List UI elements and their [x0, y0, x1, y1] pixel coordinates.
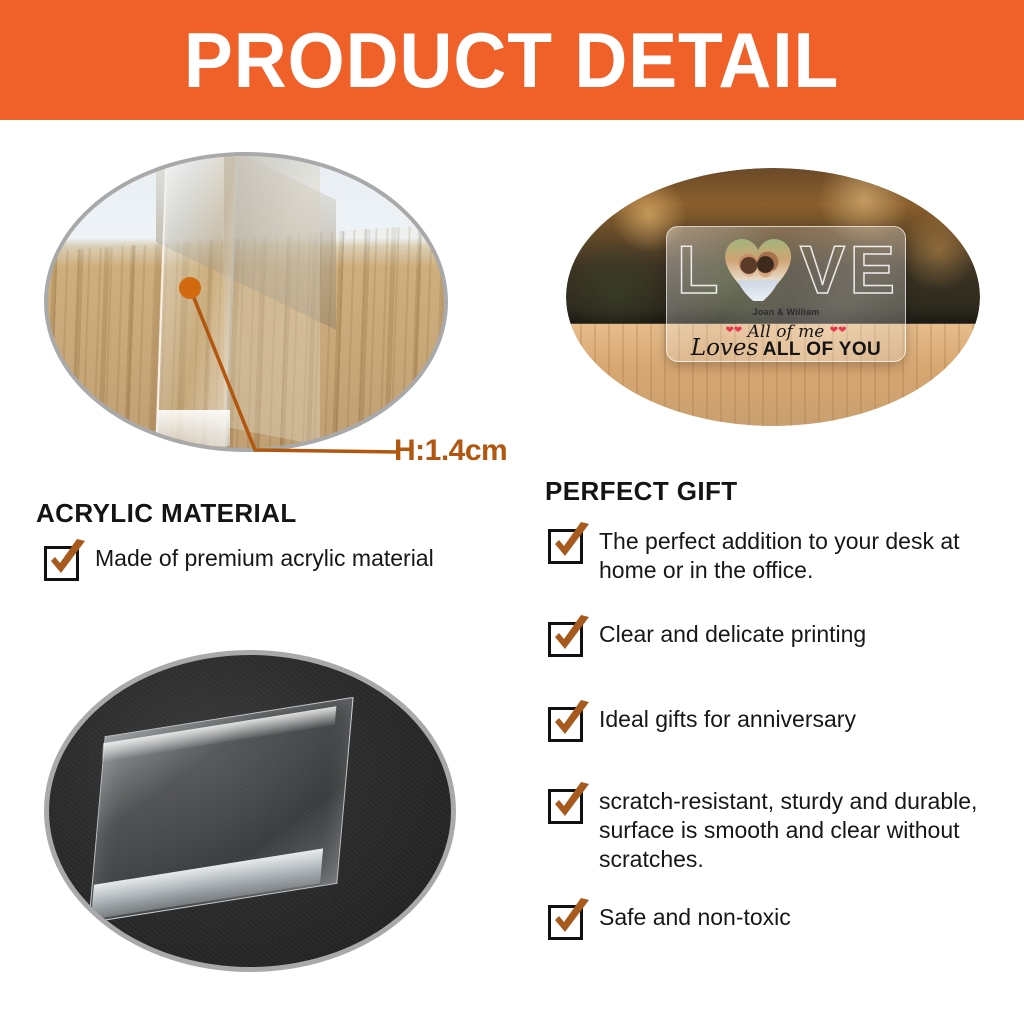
plaque-tagline-script: Loves — [691, 335, 759, 361]
feature-item-label: The perfect addition to your desk at hom… — [599, 527, 999, 585]
section-heading-perfect-gift: PERFECT GIFT — [545, 476, 738, 507]
feature-item: Safe and non-toxic — [548, 903, 999, 940]
checkbox-checked-icon[interactable] — [44, 546, 79, 581]
heart-photo-frame — [723, 237, 793, 303]
acrylic-block-on-slate-photo — [44, 650, 456, 972]
feature-item: Clear and delicate printing — [548, 620, 999, 657]
plaque-tagline-bold: ALL OF YOU — [763, 339, 881, 360]
feature-item-label: scratch-resistant, sturdy and durable, s… — [599, 787, 999, 874]
love-letter-v: V — [800, 236, 843, 304]
dimension-label: H:1.4cm — [394, 434, 507, 468]
section-heading-acrylic-material: ACRYLIC MATERIAL — [36, 498, 297, 529]
dimension-callout-line — [150, 270, 410, 470]
feature-item: The perfect addition to your desk at hom… — [548, 527, 999, 585]
love-letters: L V E — [677, 233, 893, 307]
love-letter-e: E — [850, 236, 893, 304]
feature-item: Made of premium acrylic material — [44, 544, 495, 581]
feature-item-label: Clear and delicate printing — [599, 620, 999, 649]
feature-item-label: Safe and non-toxic — [599, 903, 999, 932]
checkbox-checked-icon[interactable] — [548, 529, 583, 564]
plaque-tagline: Loves ALL OF YOU — [667, 335, 905, 361]
checkbox-checked-icon[interactable] — [548, 707, 583, 742]
love-letter-l: L — [677, 236, 717, 304]
feature-item-label: Ideal gifts for anniversary — [599, 705, 999, 734]
page-title: PRODUCT DETAIL — [184, 20, 839, 100]
checkbox-checked-icon[interactable] — [548, 905, 583, 940]
feature-item: Ideal gifts for anniversary — [548, 705, 999, 742]
checkbox-checked-icon[interactable] — [548, 789, 583, 824]
header-banner: PRODUCT DETAIL — [0, 0, 1024, 120]
feature-item-label: Made of premium acrylic material — [95, 544, 495, 573]
plaque-couple-names: Joan & William — [667, 307, 905, 317]
love-acrylic-plaque-photo: L V E Joan & William ❤❤ All of me ❤❤ Lov… — [566, 168, 980, 426]
feature-item: scratch-resistant, sturdy and durable, s… — [548, 787, 999, 874]
acrylic-plaque: L V E Joan & William ❤❤ All of me ❤❤ Lov… — [666, 226, 906, 362]
checkbox-checked-icon[interactable] — [548, 622, 583, 657]
